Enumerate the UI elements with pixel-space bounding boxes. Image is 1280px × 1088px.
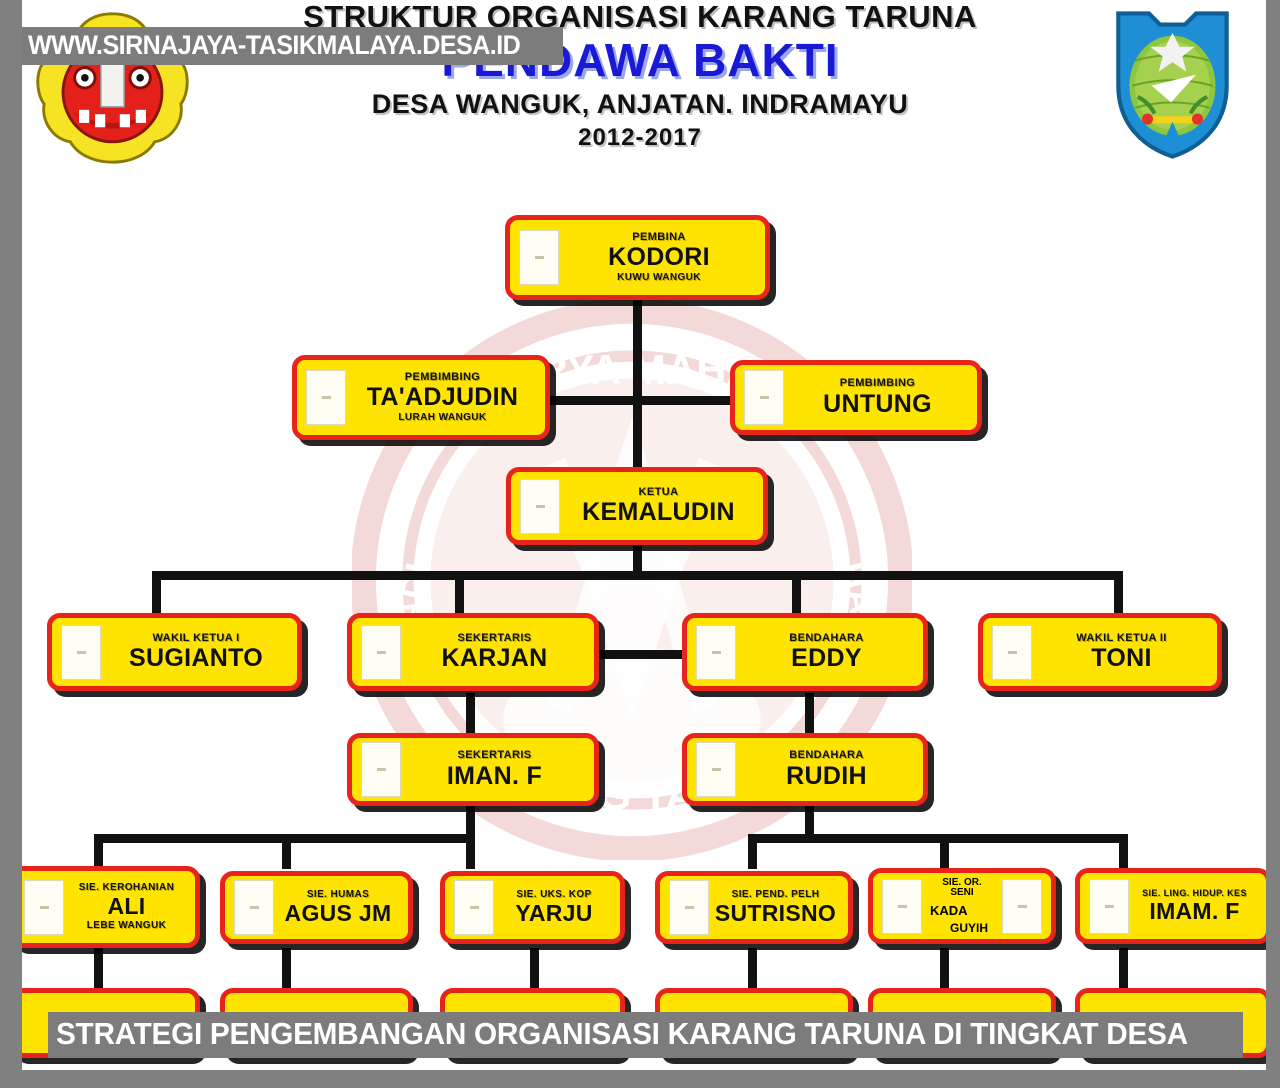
avatar	[234, 880, 274, 935]
node-text: WAKIL KETUA I SUGIANTO	[101, 633, 297, 672]
node-name: AGUS JM	[276, 901, 400, 925]
avatar	[1089, 879, 1129, 934]
node-name: KODORI	[561, 244, 757, 270]
node-name: YARJU	[496, 901, 612, 925]
node-role: BENDAHARA	[738, 750, 915, 762]
node-name: KEMALUDIN	[562, 499, 755, 525]
node-name: ALI	[66, 894, 187, 918]
node-role: BENDAHARA	[738, 633, 915, 645]
node-sie-uks-kop-yarju[interactable]: SIE. UKS. KOP YARJU	[440, 871, 625, 944]
node-role: PEMBINA	[561, 232, 757, 244]
node-sub: KUWU WANGUK	[561, 273, 757, 284]
node-bendahara-eddy[interactable]: BENDAHARA EDDY	[682, 613, 928, 691]
avatar	[24, 880, 64, 935]
node-name: TA'ADJUDIN	[348, 384, 537, 410]
chart-title-line3: DESA WANGUK, ANJATAN. INDRAMAYU	[250, 86, 1030, 122]
node-name: SUTRISNO	[711, 901, 840, 925]
node-role: KETUA	[562, 487, 755, 499]
node-text: PEMBIMBING UNTUNG	[784, 378, 977, 417]
avatar-secondary	[1002, 879, 1042, 934]
node-role: SIE. PEND. PELH	[711, 890, 840, 901]
node-sie-or-seni-kada-guyih[interactable]: SIE. OR. SENI KADA GUYIH	[868, 868, 1056, 944]
node-sekertaris-karjan[interactable]: SEKERTARIS KARJAN	[347, 613, 599, 691]
avatar	[519, 230, 559, 285]
node-text: SIE. LING. HIDUP. KES IMAM. F	[1129, 889, 1266, 924]
avatar	[61, 625, 101, 680]
avatar	[744, 370, 784, 425]
node-text: WAKIL KETUA II TONI	[1032, 633, 1217, 672]
line-bottom-drop-6	[1119, 948, 1128, 990]
line-main-bus	[152, 571, 1123, 580]
line-bus-drop-sekertaris	[455, 571, 464, 616]
node-text: SIE. UKS. KOP YARJU	[494, 890, 620, 926]
title-block: STRUKTUR ORGANISASI KARANG TARUNA PENDAW…	[250, 0, 1030, 154]
avatar	[454, 880, 494, 935]
node-name: KARJAN	[403, 645, 586, 671]
watermark-url-text: WWW.SIRNAJAYA-TASIKMALAYA.DESA.ID	[28, 30, 520, 61]
chart-title-period: 2012-2017	[250, 122, 1030, 154]
node-text: SEKERTARIS IMAN. F	[401, 750, 594, 789]
line-bottom-drop-4	[748, 948, 757, 990]
line-sie-drop-pend	[748, 834, 757, 869]
node-role: SIE. KEROHANIAN	[66, 883, 187, 894]
letterbox-bottom	[0, 1070, 1280, 1088]
karang-taruna-shield-logo	[1110, 5, 1235, 165]
line-sie-bus-right	[748, 834, 1128, 843]
node-pembimbing-untung[interactable]: PEMBIMBING UNTUNG	[730, 360, 982, 435]
line-bus-drop-wakil1	[152, 571, 161, 616]
line-bottom-drop-2	[282, 948, 291, 990]
line-pembina-down	[633, 300, 642, 400]
letterbox-right	[1266, 0, 1280, 1088]
node-name: RUDIH	[738, 763, 915, 789]
node-text: SIE. HUMAS AGUS JM	[274, 890, 408, 926]
node-text: SIE. PEND. PELH SUTRISNO	[709, 890, 848, 926]
avatar	[696, 742, 736, 797]
node-pembina-kodori[interactable]: PEMBINA KODORI KUWU WANGUK	[505, 215, 770, 300]
node-role: PEMBIMBING	[786, 378, 969, 390]
node-role: SIE. UKS. KOP	[496, 890, 612, 901]
node-sub: GUYIH	[930, 922, 994, 935]
node-role: WAKIL KETUA I	[103, 633, 289, 645]
node-name: UNTUNG	[786, 391, 969, 417]
node-role: SEKERTARIS	[403, 750, 586, 762]
node-text: SIE. OR. SENI KADA GUYIH	[922, 878, 1002, 934]
line-ketua-down	[633, 396, 642, 472]
watermark-caption-bottom: STRATEGI PENGEMBANGAN ORGANISASI KARANG …	[48, 1012, 1243, 1058]
node-pembimbing-taadjudin[interactable]: PEMBIMBING TA'ADJUDIN LURAH WANGUK	[292, 355, 550, 440]
node-ketua-kemaludin[interactable]: KETUA KEMALUDIN	[506, 467, 768, 545]
node-role: SIE. HUMAS	[276, 890, 400, 901]
avatar	[306, 370, 346, 425]
node-role: SIE. OR. SENI	[930, 878, 994, 899]
avatar	[669, 880, 709, 935]
node-name: IMAM. F	[1131, 899, 1258, 923]
avatar	[361, 625, 401, 680]
node-bendahara-rudih[interactable]: BENDAHARA RUDIH	[682, 733, 928, 806]
line-sekertaris-bendahara-link	[596, 650, 692, 659]
letterbox-left	[0, 0, 22, 1088]
node-wakil-ketua-1-sugianto[interactable]: WAKIL KETUA I SUGIANTO	[47, 613, 302, 691]
line-sie-drop-kerohanian	[94, 834, 103, 869]
org-chart-canvas: ARYA MAHA ANG TAR ADI HA STRUKTUR ORGANI…	[0, 0, 1280, 1088]
node-role: SEKERTARIS	[403, 633, 586, 645]
avatar	[361, 742, 401, 797]
line-bottom-drop-3	[530, 948, 539, 990]
node-sie-ling-hidup-kes-imam-f[interactable]: SIE. LING. HIDUP. KES IMAM. F	[1075, 868, 1271, 944]
node-text: SEKERTARIS KARJAN	[401, 633, 594, 672]
node-sie-pend-pelh-sutrisno[interactable]: SIE. PEND. PELH SUTRISNO	[655, 871, 853, 944]
node-role: WAKIL KETUA II	[1034, 633, 1209, 645]
avatar	[882, 879, 922, 934]
avatar	[520, 479, 560, 534]
avatar	[696, 625, 736, 680]
node-sie-kerohanian-ali[interactable]: SIE. KEROHANIAN ALI LEBE WANGUK	[10, 866, 200, 948]
node-text: SIE. KEROHANIAN ALI LEBE WANGUK	[64, 883, 195, 931]
node-role: SIE. LING. HIDUP. KES	[1131, 889, 1258, 898]
node-text: BENDAHARA EDDY	[736, 633, 923, 672]
node-sie-humas-agus-jm[interactable]: SIE. HUMAS AGUS JM	[220, 871, 413, 944]
line-bottom-drop-1	[94, 948, 103, 990]
node-sub: LEBE WANGUK	[66, 921, 187, 932]
node-text: BENDAHARA RUDIH	[736, 750, 923, 789]
svg-text:HA: HA	[831, 558, 883, 619]
node-sekertaris-iman-f[interactable]: SEKERTARIS IMAN. F	[347, 733, 599, 806]
node-name: EDDY	[738, 645, 915, 671]
node-text: KETUA KEMALUDIN	[560, 487, 763, 526]
line-bottom-drop-5	[940, 948, 949, 990]
node-name: IMAN. F	[403, 763, 586, 789]
line-sie-drop-orseni	[940, 834, 949, 869]
node-name: KADA	[930, 904, 994, 918]
watermark-caption-text: STRATEGI PENGEMBANGAN ORGANISASI KARANG …	[56, 1016, 1188, 1052]
line-sie-drop-ling	[1119, 834, 1128, 869]
node-text: PEMBIMBING TA'ADJUDIN LURAH WANGUK	[346, 372, 545, 423]
node-role: PEMBIMBING	[348, 372, 537, 384]
line-bus-drop-wakil2	[1114, 571, 1123, 616]
line-sie-drop-humas	[282, 834, 291, 869]
line-bus-drop-bendahara	[792, 571, 801, 616]
node-name: SUGIANTO	[103, 645, 289, 671]
avatar	[992, 625, 1032, 680]
node-wakil-ketua-2-toni[interactable]: WAKIL KETUA II TONI	[978, 613, 1222, 691]
node-sub: LURAH WANGUK	[348, 413, 537, 424]
node-text: PEMBINA KODORI KUWU WANGUK	[559, 232, 765, 283]
node-name: TONI	[1034, 645, 1209, 671]
line-sie-drop-uks	[466, 834, 475, 869]
watermark-url-top: WWW.SIRNAJAYA-TASIKMALAYA.DESA.ID	[22, 27, 563, 65]
